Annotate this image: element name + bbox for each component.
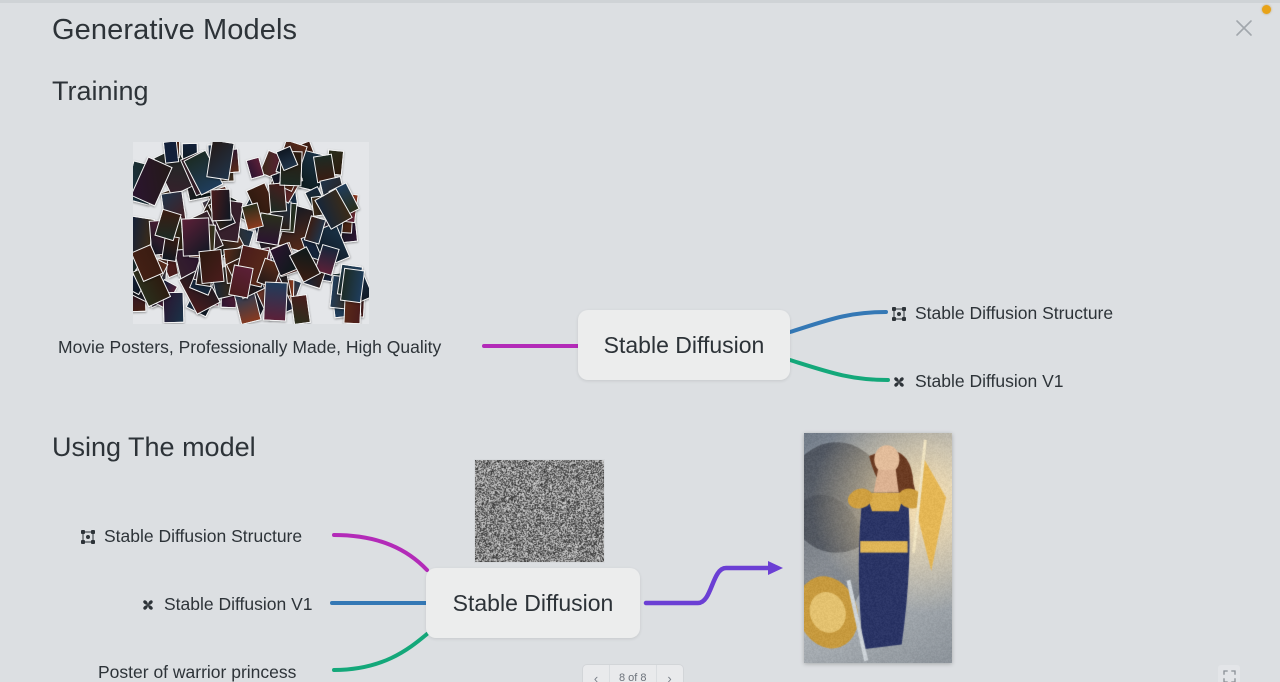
- label-input-structure: Stable Diffusion Structure: [80, 526, 302, 547]
- slide-viewer: Generative Models Training Using The mod…: [0, 0, 1280, 682]
- fullscreen-icon[interactable]: [1218, 665, 1240, 682]
- edge-model-to-output: [646, 568, 770, 603]
- top-divider: [0, 0, 1280, 3]
- label-input-v1: Stable Diffusion V1: [140, 594, 313, 615]
- page-title: Generative Models: [52, 14, 297, 47]
- label-text: Poster of warrior princess: [98, 662, 296, 682]
- label-training-input: Movie Posters, Professionally Made, High…: [58, 337, 441, 358]
- section-heading-training: Training: [52, 76, 149, 107]
- label-text: Stable Diffusion V1: [164, 594, 313, 615]
- edge-prompt-to-model-2: [334, 634, 427, 670]
- close-icon[interactable]: [1230, 14, 1258, 42]
- prev-page-button[interactable]: ‹: [583, 665, 609, 682]
- model-node-using[interactable]: Stable Diffusion: [426, 568, 640, 638]
- edge-model-to-structure: [790, 312, 886, 332]
- network-nodes-icon: [891, 306, 907, 322]
- label-text: Stable Diffusion V1: [915, 371, 1064, 392]
- edge-model-to-v1: [790, 360, 888, 380]
- arrowhead-icon: [768, 561, 783, 575]
- generated-warrior-princess-poster: [804, 433, 952, 663]
- model-node-training[interactable]: Stable Diffusion: [578, 310, 790, 380]
- edge-structure-to-model: [334, 535, 427, 570]
- section-heading-using: Using The model: [52, 432, 256, 463]
- label-text: Movie Posters, Professionally Made, High…: [58, 337, 441, 358]
- label-text: Stable Diffusion Structure: [915, 303, 1113, 324]
- label-output-structure: Stable Diffusion Structure: [891, 303, 1113, 324]
- pinwheel-model-icon: [140, 597, 156, 613]
- movie-poster-collage: [133, 142, 369, 324]
- pinwheel-model-icon: [891, 374, 907, 390]
- page-indicator: 8 of 8: [609, 665, 657, 682]
- label-text: Stable Diffusion Structure: [104, 526, 302, 547]
- status-dot: [1262, 5, 1271, 14]
- label-output-v1: Stable Diffusion V1: [891, 371, 1064, 392]
- gaussian-noise-latent: [475, 460, 604, 562]
- pagination[interactable]: ‹ 8 of 8 ›: [583, 665, 683, 682]
- network-nodes-icon: [80, 529, 96, 545]
- label-input-prompt: Poster of warrior princess: [98, 662, 296, 682]
- next-page-button[interactable]: ›: [657, 665, 683, 682]
